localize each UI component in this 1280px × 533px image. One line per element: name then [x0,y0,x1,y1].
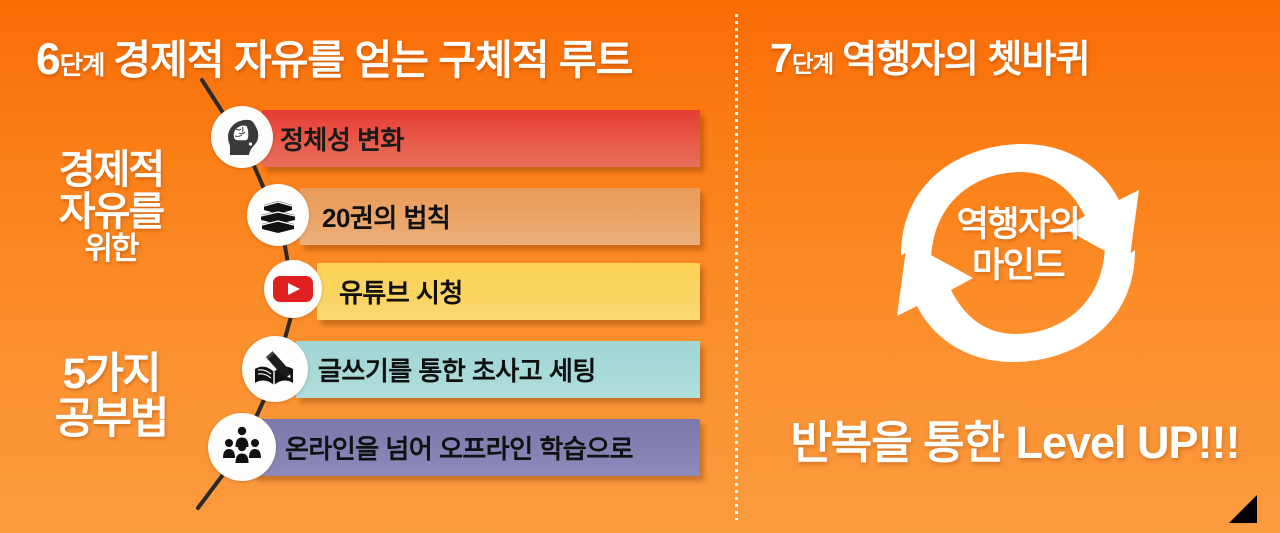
book-pencil-icon-badge [242,336,308,402]
corner-fold-marker [1229,495,1257,523]
brain-head-icon [219,114,265,160]
cycle-center-text: 역행자의 마인드 [863,205,1173,286]
panel-divider [735,14,738,520]
stacked-books-icon-badge [247,184,309,246]
people-group-icon-badge [208,413,276,481]
left-heading-step-word: 단계 [60,52,105,80]
step-label-3: 유튜브 시청 [317,273,463,310]
cycle-text-line1: 역행자의 [863,205,1173,246]
right-heading-number: 7 [770,35,792,81]
step-label-4: 글쓰기를 통한 초사고 세팅 [296,351,596,388]
step-label-5: 온라인을 넘어 오프라인 학습으로 [253,429,633,466]
youtube-icon [272,274,314,304]
step-label-1: 정체성 변화 [262,120,404,157]
left-heading-number: 6 [36,35,60,84]
brain-head-icon-badge [211,106,273,168]
step-bar-4[interactable]: 글쓰기를 통한 초사고 세팅 [296,341,700,398]
level-up-text: 반복을 통한 Level UP!!! [760,406,1270,471]
step-bar-2[interactable]: 20권의 법칙 [300,188,700,245]
stacked-books-icon [256,195,300,235]
step-bar-5[interactable]: 온라인을 넘어 오프라인 학습으로 [253,419,700,476]
step-bar-1[interactable]: 정체성 변화 [262,110,700,167]
right-heading-step-word: 단계 [792,51,833,77]
youtube-icon-badge [264,260,322,318]
right-heading-main: 역행자의 쳇바퀴 [842,39,1089,81]
step-label-2: 20권의 법칙 [300,198,450,235]
book-pencil-icon [251,347,299,391]
cycle-text-line2: 마인드 [863,246,1173,287]
right-panel-heading: 7단계역행자의 쳇바퀴 [770,28,1089,83]
people-group-icon [218,425,266,469]
slide-canvas: 6단계경제적 자유를 얻는 구체적 루트 경제적 자유를 위한 5가지 공부법 … [0,0,1280,533]
step-bar-3[interactable]: 유튜브 시청 [317,263,700,320]
